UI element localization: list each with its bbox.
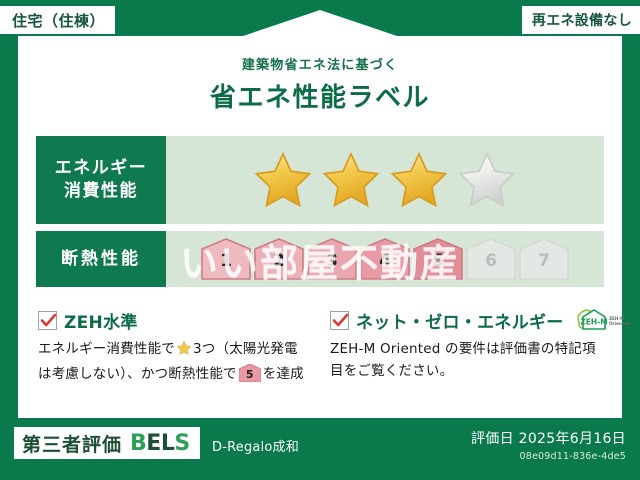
net-zero-checkbox[interactable] — [330, 311, 349, 330]
zeh-standard-heading: ZEH水準 — [38, 308, 310, 332]
zeh-standard-checkbox[interactable] — [38, 311, 57, 330]
grade-number: 6 — [466, 251, 516, 271]
bels-letter-s: S — [174, 431, 189, 456]
grade-number: 1 — [201, 251, 251, 271]
grade-number: 3 — [307, 251, 357, 271]
bels-letter-b: B — [130, 431, 146, 456]
renewable-equipment-badge: 再エネ設備なし — [522, 6, 640, 34]
grade-badge-3: 3 — [307, 238, 357, 280]
third-party-label: 第三者評価 — [22, 430, 122, 457]
zeh-m-logo: ZEH-M ZEH-M Oriented — [573, 307, 631, 333]
insulation-row-label: 断熱性能 — [36, 231, 166, 287]
grade-badge-7: 7 — [519, 238, 569, 280]
insulation-label-text: 断熱性能 — [61, 248, 141, 271]
grade-badge-1: 1 — [201, 238, 251, 280]
evaluation-info: 評価日 2025年6月16日 08e09d11-836e-4de5 — [471, 428, 626, 462]
star-filled-icon — [252, 150, 314, 210]
grade-badge-6: 6 — [466, 238, 516, 280]
energy-performance-label: 住宅（住棟） 再エネ設備なし 建築物省エネ法に基づく 省エネ性能ラベル エネルギ… — [0, 0, 640, 480]
svg-text:ZEH-M: ZEH-M — [580, 318, 607, 327]
bels-logo: BELS — [130, 431, 190, 456]
energy-label-line1: エネルギー — [55, 157, 148, 180]
title-subtitle: 建築物省エネ法に基づく — [18, 54, 622, 73]
evaluation-date: 評価日 2025年6月16日 — [471, 428, 626, 448]
net-zero-heading: ネット・ゼロ・エネルギー ZEH-M ZEH-M Oriented — [330, 308, 602, 332]
bels-certification-box: 第三者評価 BELS — [14, 427, 200, 459]
energy-performance-row: エネルギー 消費性能 — [36, 136, 604, 224]
inline-star-icon — [176, 344, 192, 360]
energy-row-label: エネルギー 消費性能 — [36, 136, 166, 224]
insulation-row-value: 1234567 — [166, 231, 604, 287]
grade-badges: 1234567 — [201, 238, 569, 280]
note-zeh-standard: ZEH水準 エネルギー消費性能で3つ（太陽光発電は考慮しない）、かつ断熱性能で5… — [38, 308, 310, 386]
rating-rows: エネルギー 消費性能 断熱性能 1234567 — [36, 136, 604, 287]
inline-grade-badge: 5 — [239, 364, 261, 382]
grade-number: 7 — [519, 251, 569, 271]
star-rating — [252, 150, 518, 210]
grade-badge-2: 2 — [254, 238, 304, 280]
zeh-body-pre: エネルギー消費性能で — [38, 341, 175, 357]
grade-badge-5: 5 — [413, 238, 463, 280]
check-icon — [332, 312, 349, 329]
building-name: D-Regalo成和 — [212, 436, 299, 455]
evaluation-id: 08e09d11-836e-4de5 — [471, 451, 626, 462]
net-zero-title: ネット・ゼロ・エネルギー — [356, 308, 564, 333]
title-main: 省エネ性能ラベル — [18, 77, 622, 114]
inline-grade-number: 5 — [239, 366, 261, 384]
zeh-standard-title: ZEH水準 — [64, 308, 138, 333]
grade-badge-4: 4 — [360, 238, 410, 280]
note-net-zero-energy: ネット・ゼロ・エネルギー ZEH-M ZEH-M Oriented ZEH-M … — [330, 308, 602, 386]
label-inner-panel: 建築物省エネ法に基づく 省エネ性能ラベル エネルギー 消費性能 断熱性能 — [18, 36, 622, 418]
star-filled-icon — [388, 150, 450, 210]
label-title: 建築物省エネ法に基づく 省エネ性能ラベル — [18, 54, 622, 114]
star-empty-icon — [456, 150, 518, 210]
dwelling-type-badge: 住宅（住棟） — [0, 6, 115, 34]
zeh-standard-body: エネルギー消費性能で3つ（太陽光発電は考慮しない）、かつ断熱性能で5を達成 — [38, 338, 310, 386]
notes-section: ZEH水準 エネルギー消費性能で3つ（太陽光発電は考慮しない）、かつ断熱性能で5… — [38, 308, 608, 386]
svg-text:Oriented: Oriented — [609, 321, 630, 326]
energy-row-value — [166, 136, 604, 224]
bels-letter-el: EL — [146, 431, 174, 456]
energy-label-line2: 消費性能 — [64, 180, 138, 203]
grade-number: 5 — [413, 251, 463, 271]
grade-number: 4 — [360, 251, 410, 271]
check-icon — [40, 312, 57, 329]
zeh-body-post: を達成 — [263, 366, 304, 382]
net-zero-body: ZEH-M Oriented の要件は評価書の特記項目をご覧ください。 — [330, 338, 602, 383]
grade-number: 2 — [254, 251, 304, 271]
star-filled-icon — [320, 150, 382, 210]
label-footer: 第三者評価 BELS D-Regalo成和 評価日 2025年6月16日 08e… — [0, 418, 640, 480]
insulation-performance-row: 断熱性能 1234567 — [36, 231, 604, 287]
